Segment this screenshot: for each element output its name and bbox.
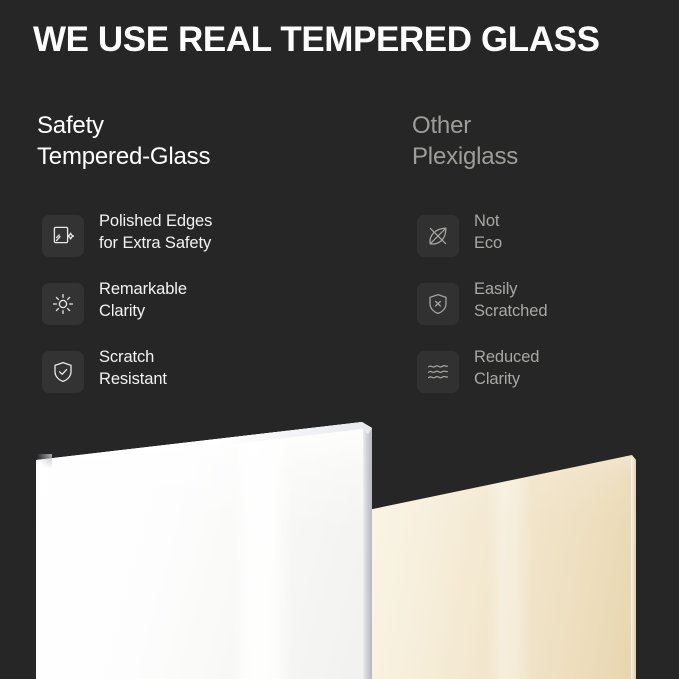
feature-row: Easily Scratched [412,278,677,346]
feature-label: Remarkable Clarity [99,279,187,322]
column-heading-right: Other Plexiglass [412,110,677,172]
wavy-lines-icon [417,351,459,393]
feature-label-line2: Clarity [99,301,187,323]
plexi-reflection [486,422,532,679]
feature-row: Polished Edges for Extra Safety [37,210,377,278]
feature-label-line2: Resistant [99,369,167,391]
feature-label-line1: Not [474,212,499,230]
product-photo [0,392,679,679]
infographic-root: WE USE REAL TEMPERED GLASS Safety Temper… [0,0,679,679]
glass-right-edge [363,427,372,679]
feature-label-line1: Polished Edges [99,212,212,230]
feature-list-right: Not Eco Easily Scratched [412,210,677,414]
feature-label: Polished Edges for Extra Safety [99,211,212,254]
column-heading-left-line1: Safety [37,112,104,139]
column-heading-right-line1: Other [412,112,471,139]
feature-label-line2: Eco [474,233,502,255]
feature-label-line2: Clarity [474,369,539,391]
feature-label-line1: Scratch [99,348,154,366]
feature-row: Remarkable Clarity [37,278,377,346]
leaf-crossed-out-icon [417,215,459,257]
feature-label-line1: Remarkable [99,280,187,298]
feature-label: Not Eco [474,211,502,254]
column-tempered-glass: Safety Tempered-Glass Polished Edges for… [37,110,377,172]
glass-corner-highlight [36,454,52,468]
feature-label-line2: for Extra Safety [99,233,212,255]
glass-reflection [232,422,292,679]
feature-label: Reduced Clarity [474,347,539,390]
feature-row: Not Eco [412,210,677,278]
shield-check-icon [42,351,84,393]
page-title: WE USE REAL TEMPERED GLASS [33,18,600,62]
column-heading-left: Safety Tempered-Glass [37,110,377,172]
feature-list-left: Polished Edges for Extra Safety Remarkab… [37,210,377,414]
feature-label-line1: Reduced [474,348,539,366]
sun-brightness-icon [42,283,84,325]
plexi-right-edge [631,458,636,679]
column-heading-right-line2: Plexiglass [412,143,518,170]
plexiglass-panel [368,422,636,679]
column-plexiglass: Other Plexiglass Not Eco [412,110,677,172]
feature-label: Scratch Resistant [99,347,167,390]
feature-label-line2: Scratched [474,301,547,323]
feature-label: Easily Scratched [474,279,547,322]
polished-square-sparkle-icon [42,215,84,257]
column-heading-left-line2: Tempered-Glass [37,143,210,170]
feature-label-line1: Easily [474,280,517,298]
shield-x-icon [417,283,459,325]
